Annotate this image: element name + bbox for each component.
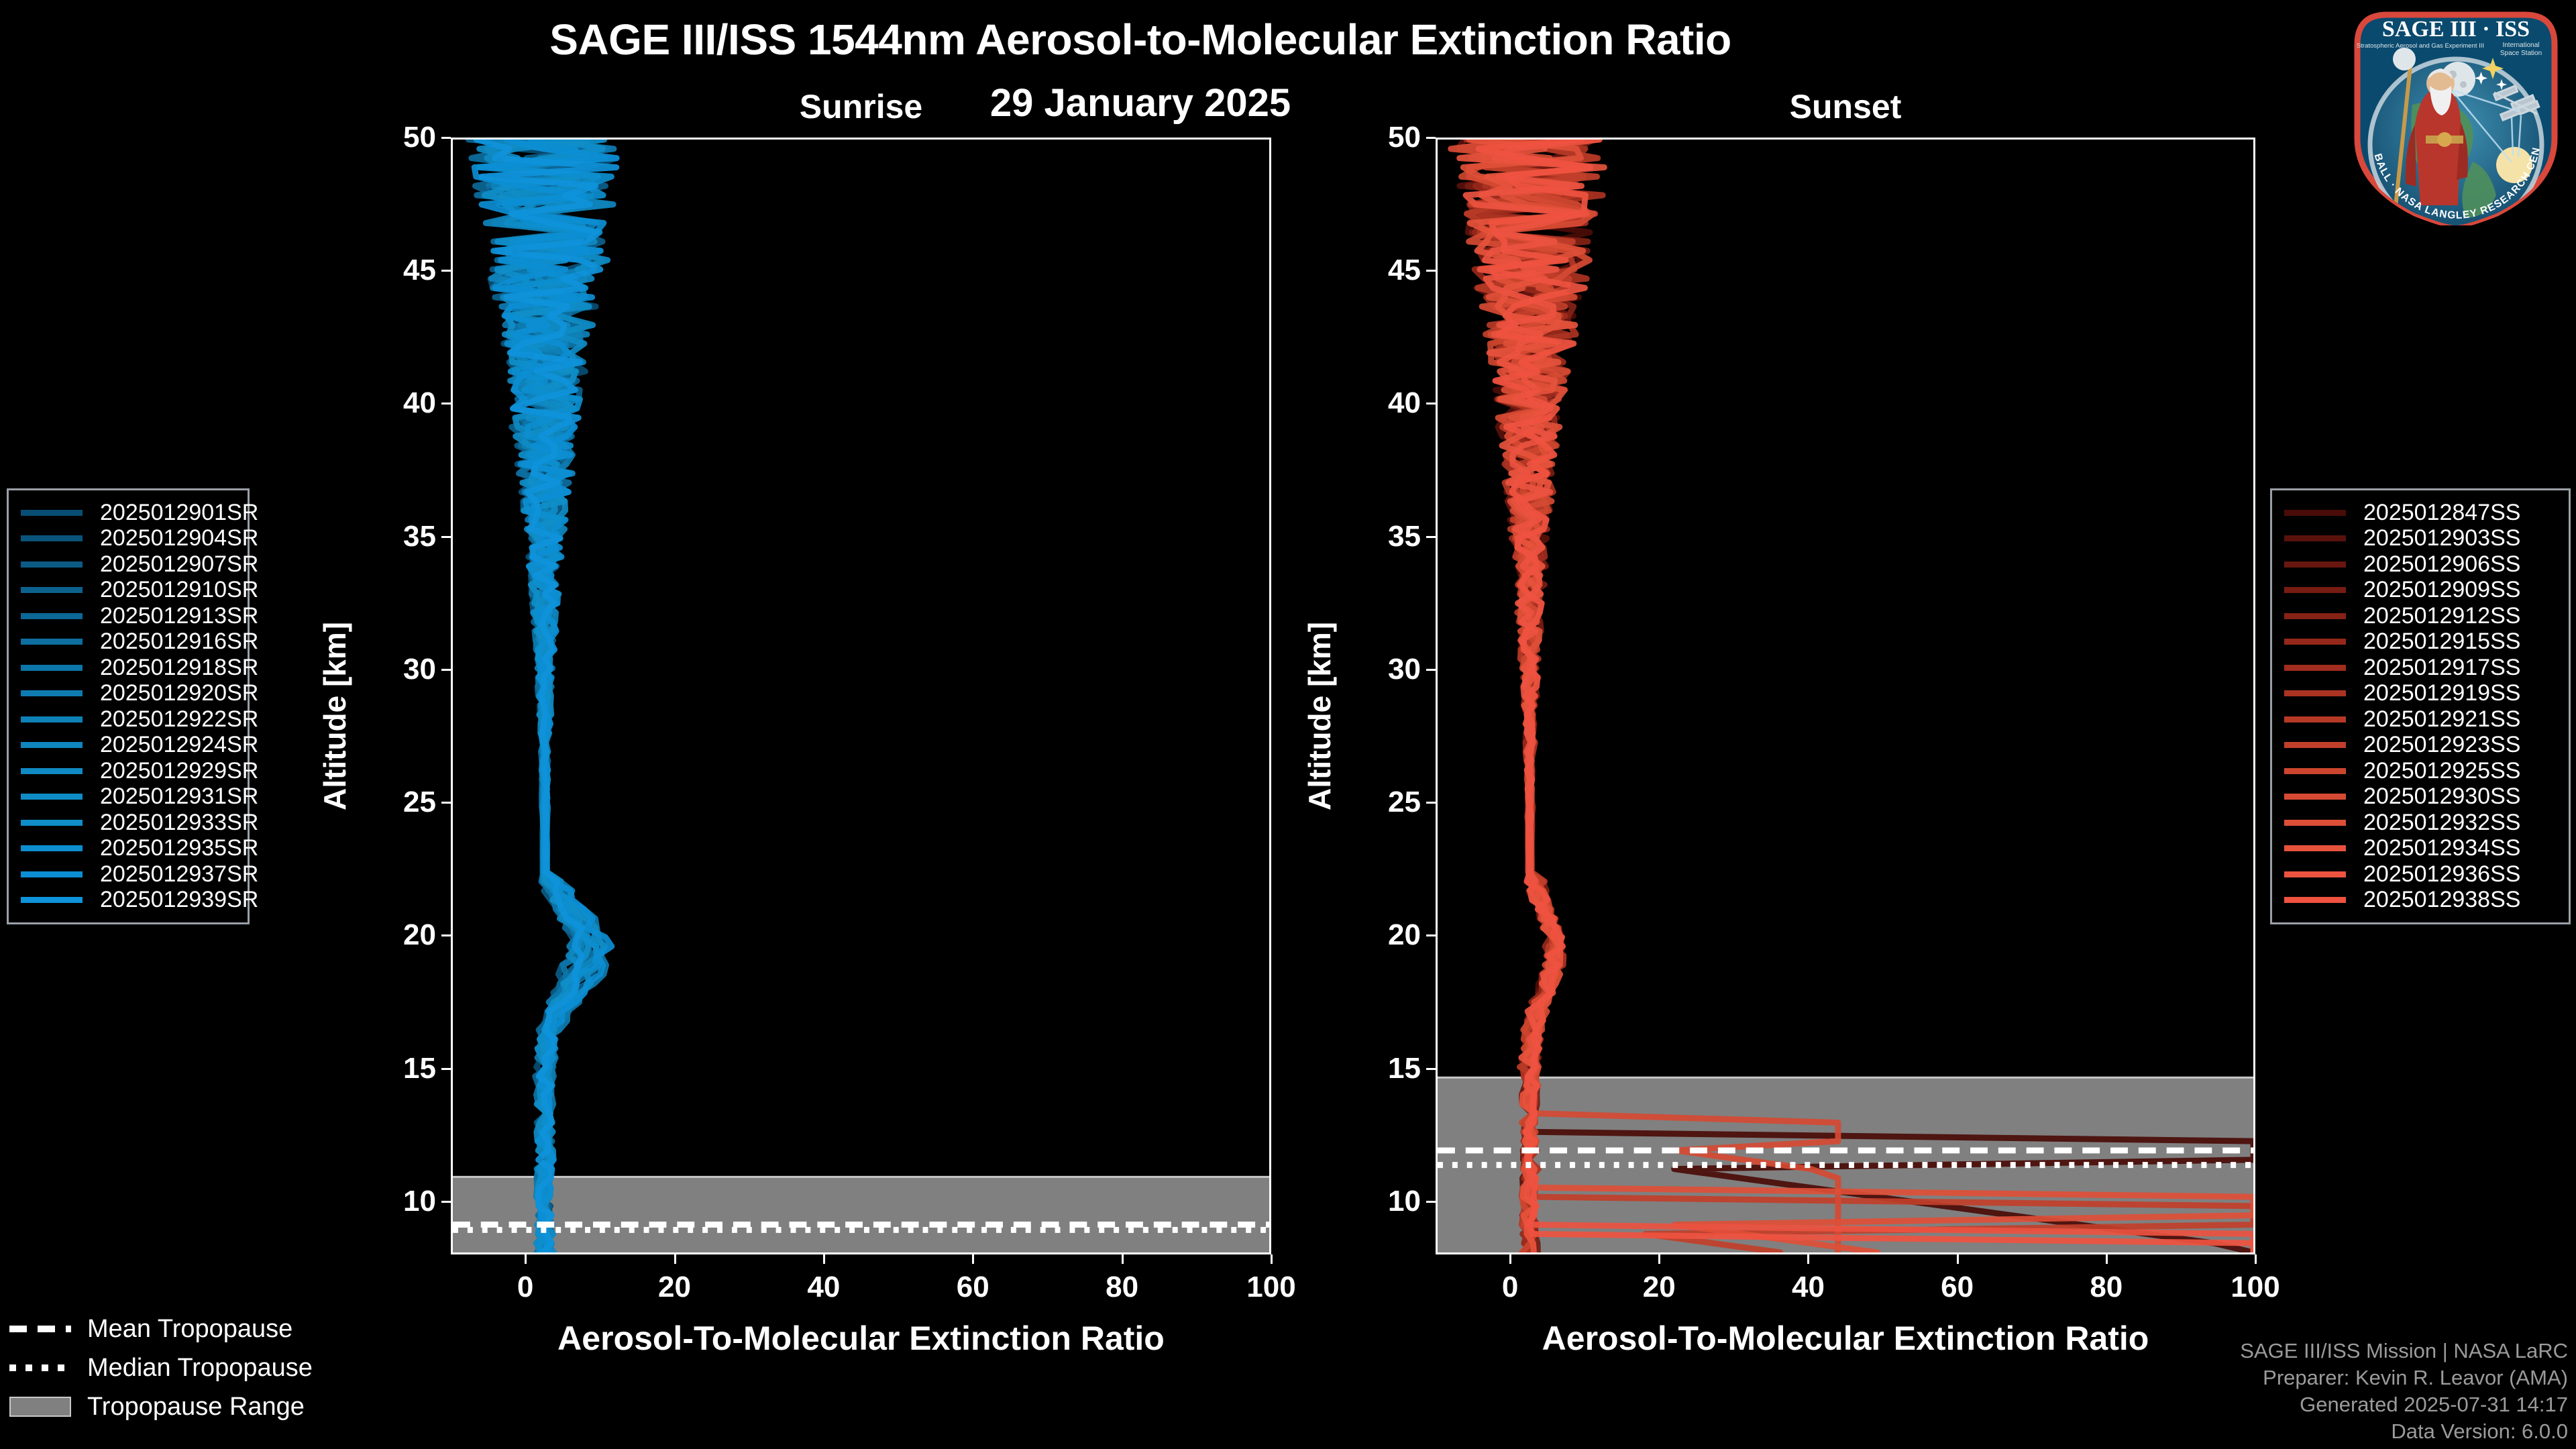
- logo-title: SAGE III · ISS: [2382, 17, 2530, 42]
- y-tick-mark: [1426, 1201, 1436, 1203]
- legend-item-2025012925SS[interactable]: 2025012925SS: [2284, 758, 2557, 784]
- x-tick-label: 60: [1911, 1271, 2004, 1304]
- legend-item-median-tropopause: Median Tropopause: [9, 1348, 358, 1387]
- legend-item-2025012923SS[interactable]: 2025012923SS: [2284, 733, 2557, 759]
- y-tick-label: 20: [356, 918, 436, 952]
- y-tick-mark: [441, 270, 451, 272]
- y-tick-label: 35: [356, 520, 436, 553]
- legend-item-2025012913SR[interactable]: 2025012913SR: [21, 603, 235, 629]
- legend-label: 2025012913SR: [100, 603, 258, 629]
- legend-label: 2025012933SR: [100, 810, 258, 836]
- y-tick-label: 15: [356, 1052, 436, 1085]
- x-tick-label: 100: [2208, 1271, 2302, 1304]
- x-tick-label: 0: [478, 1271, 572, 1304]
- legend-item-2025012931SR[interactable]: 2025012931SR: [21, 784, 235, 810]
- footer-line-generated: Generated 2025-07-31 14:17: [2240, 1391, 2568, 1418]
- y-tick-label: 25: [1340, 786, 1421, 819]
- x-tick-mark: [525, 1254, 527, 1264]
- legend-color-swatch: [2284, 742, 2346, 748]
- legend-color-swatch: [21, 561, 83, 568]
- y-tick-label: 10: [1340, 1185, 1421, 1218]
- legend-item-2025012912SS[interactable]: 2025012912SS: [2284, 603, 2557, 629]
- legend-label: 2025012901SR: [100, 500, 258, 526]
- legend-item-2025012904SR[interactable]: 2025012904SR: [21, 526, 235, 552]
- legend-label: 2025012920SR: [100, 680, 258, 706]
- legend-color-swatch: [21, 716, 83, 722]
- legend-label: 2025012918SR: [100, 655, 258, 681]
- x-tick-mark: [972, 1254, 974, 1264]
- y-tick-label: 35: [1340, 520, 1421, 553]
- sage-iii-iss-mission-patch-logo: SAGE III · ISS Stratospheric Aerosol and…: [2345, 4, 2567, 225]
- legend-item-2025012936SS[interactable]: 2025012936SS: [2284, 861, 2557, 888]
- legend-label: 2025012923SS: [2363, 732, 2520, 758]
- y-tick-mark: [1426, 1068, 1436, 1070]
- x-tick-mark: [674, 1254, 676, 1264]
- legend-label: 2025012922SR: [100, 706, 258, 733]
- footer-line-preparer: Preparer: Kevin R. Leavor (AMA): [2240, 1364, 2568, 1391]
- y-tick-label: 50: [356, 121, 436, 154]
- legend-color-swatch: [2284, 897, 2346, 903]
- y-tick-mark: [1426, 669, 1436, 671]
- y-tick-mark: [441, 536, 451, 538]
- y-tick-label: 40: [356, 386, 436, 420]
- x-tick-label: 0: [1463, 1271, 1557, 1304]
- legend-label: 2025012938SS: [2363, 887, 2520, 913]
- legend-color-swatch: [21, 639, 83, 645]
- legend-color-swatch: [21, 535, 83, 541]
- y-tick-mark: [441, 802, 451, 804]
- legend-item-2025012922SR[interactable]: 2025012922SR: [21, 706, 235, 733]
- legend-color-swatch: [2284, 716, 2346, 722]
- legend-label: 2025012904SR: [100, 525, 258, 551]
- legend-label: 2025012932SS: [2363, 810, 2520, 836]
- legend-item-2025012938SS[interactable]: 2025012938SS: [2284, 888, 2557, 914]
- y-tick-label: 40: [1340, 386, 1421, 420]
- x-tick-mark: [1658, 1254, 1660, 1264]
- legend-item-2025012915SS[interactable]: 2025012915SS: [2284, 629, 2557, 655]
- tropopause-legend: Mean Tropopause Median Tropopause Tropop…: [9, 1309, 358, 1426]
- y-tick-label: 30: [1340, 653, 1421, 686]
- legend-label: 2025012937SR: [100, 861, 258, 888]
- sunrise-plot-canvas: [453, 140, 1269, 1252]
- y-tick-mark: [1426, 802, 1436, 804]
- tropopause-range-band: [453, 1177, 1269, 1252]
- filled-band-icon: [9, 1399, 71, 1414]
- legend-item-2025012935SR[interactable]: 2025012935SR: [21, 836, 235, 862]
- sunrise-plot-panel: [451, 138, 1271, 1254]
- legend-item-2025012939SR[interactable]: 2025012939SR: [21, 888, 235, 914]
- y-tick-mark: [441, 1201, 451, 1203]
- logo-subtitle-right-1: International: [2502, 42, 2539, 49]
- legend-color-swatch: [21, 510, 83, 516]
- y-tick-mark: [1426, 270, 1436, 272]
- legend-label: 2025012847SS: [2363, 500, 2520, 526]
- footer-credits: SAGE III/ISS Mission | NASA LaRC Prepare…: [2240, 1338, 2568, 1445]
- legend-color-swatch: [21, 690, 83, 696]
- legend-label-tropopause-range: Tropopause Range: [87, 1393, 305, 1421]
- x-tick-mark: [1271, 1254, 1273, 1264]
- legend-color-swatch: [21, 665, 83, 671]
- legend-label: 2025012917SS: [2363, 655, 2520, 681]
- legend-item-2025012930SS[interactable]: 2025012930SS: [2284, 784, 2557, 810]
- x-tick-label: 100: [1224, 1271, 1318, 1304]
- x-tick-mark: [1122, 1254, 1124, 1264]
- legend-label-mean-tropopause: Mean Tropopause: [87, 1315, 292, 1344]
- legend-color-swatch: [21, 897, 83, 903]
- legend-color-swatch: [2284, 561, 2346, 568]
- x-axis-label: Aerosol-To-Molecular Extinction Ratio: [1436, 1319, 2255, 1358]
- legend-label: 2025012925SS: [2363, 758, 2520, 784]
- legend-item-2025012932SS[interactable]: 2025012932SS: [2284, 810, 2557, 836]
- legend-color-swatch: [21, 587, 83, 593]
- sunrise-panel-label: Sunrise: [451, 87, 1271, 126]
- x-tick-label: 20: [628, 1271, 722, 1304]
- legend-color-swatch: [2284, 639, 2346, 645]
- sunset-series-legend: 2025012847SS2025012903SS2025012906SS2025…: [2270, 488, 2571, 924]
- y-tick-label: 20: [1340, 918, 1421, 952]
- legend-color-swatch: [2284, 768, 2346, 774]
- legend-label: 2025012910SR: [100, 577, 258, 603]
- y-tick-label: 50: [1340, 121, 1421, 154]
- y-axis-label: Altitude [km]: [1301, 621, 1338, 810]
- legend-color-swatch: [2284, 820, 2346, 826]
- legend-color-swatch: [2284, 690, 2346, 696]
- y-tick-label: 45: [1340, 254, 1421, 287]
- legend-color-swatch: [2284, 587, 2346, 593]
- legend-item-2025012847SS[interactable]: 2025012847SS: [2284, 500, 2557, 526]
- footer-line-mission: SAGE III/ISS Mission | NASA LaRC: [2240, 1338, 2568, 1364]
- legend-color-swatch: [2284, 794, 2346, 800]
- sunset-plot-canvas: [1438, 140, 2253, 1252]
- legend-item-2025012903SS[interactable]: 2025012903SS: [2284, 526, 2557, 552]
- legend-label: 2025012936SS: [2363, 861, 2520, 888]
- y-tick-label: 10: [356, 1185, 436, 1218]
- legend-label: 2025012903SS: [2363, 525, 2520, 551]
- legend-item-2025012901SR[interactable]: 2025012901SR: [21, 500, 235, 526]
- legend-item-2025012909SS[interactable]: 2025012909SS: [2284, 578, 2557, 604]
- legend-item-2025012919SS[interactable]: 2025012919SS: [2284, 681, 2557, 707]
- legend-label: 2025012916SR: [100, 629, 258, 655]
- y-tick-mark: [1426, 137, 1436, 139]
- x-tick-label: 80: [1075, 1271, 1169, 1304]
- legend-color-swatch: [2284, 613, 2346, 619]
- legend-label-median-tropopause: Median Tropopause: [87, 1354, 313, 1383]
- legend-label: 2025012935SR: [100, 835, 258, 861]
- y-tick-mark: [441, 137, 451, 139]
- legend-item-2025012933SR[interactable]: 2025012933SR: [21, 810, 235, 836]
- sunset-panel-label: Sunset: [1436, 87, 2255, 126]
- dashed-line-icon: [9, 1322, 71, 1336]
- y-axis-label: Altitude [km]: [317, 621, 353, 810]
- legend-label: 2025012909SS: [2363, 577, 2520, 603]
- x-tick-label: 40: [1761, 1271, 1855, 1304]
- legend-label: 2025012924SR: [100, 732, 258, 758]
- legend-color-swatch: [21, 794, 83, 800]
- x-tick-label: 60: [926, 1271, 1020, 1304]
- legend-label: 2025012931SR: [100, 784, 258, 810]
- x-tick-label: 40: [777, 1271, 871, 1304]
- dotted-line-icon: [9, 1360, 71, 1375]
- legend-item-2025012924SR[interactable]: 2025012924SR: [21, 733, 235, 759]
- legend-label: 2025012921SS: [2363, 706, 2520, 733]
- legend-item-2025012920SR[interactable]: 2025012920SR: [21, 681, 235, 707]
- y-tick-mark: [441, 1068, 451, 1070]
- legend-item-2025012929SR[interactable]: 2025012929SR: [21, 758, 235, 784]
- y-tick-label: 30: [356, 653, 436, 686]
- legend-item-2025012916SR[interactable]: 2025012916SR: [21, 629, 235, 655]
- x-tick-mark: [1957, 1254, 1959, 1264]
- legend-color-swatch: [21, 845, 83, 851]
- legend-color-swatch: [21, 613, 83, 619]
- legend-color-swatch: [21, 742, 83, 748]
- legend-item-2025012907SR[interactable]: 2025012907SR: [21, 551, 235, 578]
- legend-item-2025012918SR[interactable]: 2025012918SR: [21, 655, 235, 681]
- legend-item-tropopause-range: Tropopause Range: [9, 1387, 358, 1426]
- legend-color-swatch: [2284, 845, 2346, 851]
- legend-label: 2025012907SR: [100, 551, 258, 578]
- sunset-plot-panel: [1436, 138, 2255, 1254]
- legend-item-2025012910SR[interactable]: 2025012910SR: [21, 578, 235, 604]
- y-tick-label: 15: [1340, 1052, 1421, 1085]
- x-tick-mark: [1509, 1254, 1511, 1264]
- legend-label: 2025012912SS: [2363, 603, 2520, 629]
- y-tick-mark: [441, 669, 451, 671]
- x-tick-mark: [2255, 1254, 2257, 1264]
- legend-label: 2025012930SS: [2363, 784, 2520, 810]
- legend-color-swatch: [21, 820, 83, 826]
- legend-label: 2025012939SR: [100, 887, 258, 913]
- x-tick-mark: [823, 1254, 825, 1264]
- legend-color-swatch: [21, 871, 83, 877]
- page-title: SAGE III/ISS 1544nm Aerosol-to-Molecular…: [0, 15, 2281, 64]
- y-tick-label: 25: [356, 786, 436, 819]
- legend-color-swatch: [21, 768, 83, 774]
- y-tick-mark: [441, 402, 451, 405]
- y-tick-mark: [1426, 934, 1436, 936]
- y-tick-mark: [441, 934, 451, 936]
- legend-item-2025012921SS[interactable]: 2025012921SS: [2284, 706, 2557, 733]
- legend-item-2025012934SS[interactable]: 2025012934SS: [2284, 836, 2557, 862]
- footer-line-version: Data Version: 6.0.0: [2240, 1418, 2568, 1445]
- logo-subtitle-right-2: Space Station: [2500, 50, 2542, 57]
- legend-label: 2025012919SS: [2363, 680, 2520, 706]
- legend-label: 2025012934SS: [2363, 835, 2520, 861]
- legend-color-swatch: [2284, 535, 2346, 541]
- x-tick-label: 20: [1612, 1271, 1706, 1304]
- y-tick-label: 45: [356, 254, 436, 287]
- y-tick-mark: [1426, 536, 1436, 538]
- legend-label: 2025012929SR: [100, 758, 258, 784]
- sunrise-series-legend: 2025012901SR2025012904SR2025012907SR2025…: [7, 488, 250, 924]
- x-tick-label: 80: [2059, 1271, 2153, 1304]
- logo-subtitle-left: Stratospheric Aerosol and Gas Experiment…: [2357, 42, 2484, 50]
- legend-color-swatch: [2284, 871, 2346, 877]
- legend-item-mean-tropopause: Mean Tropopause: [9, 1309, 358, 1348]
- x-tick-mark: [2106, 1254, 2108, 1264]
- x-tick-mark: [1807, 1254, 1809, 1264]
- x-axis-label: Aerosol-To-Molecular Extinction Ratio: [451, 1319, 1271, 1358]
- legend-label: 2025012906SS: [2363, 551, 2520, 578]
- legend-color-swatch: [2284, 665, 2346, 671]
- legend-item-2025012937SR[interactable]: 2025012937SR: [21, 861, 235, 888]
- legend-item-2025012906SS[interactable]: 2025012906SS: [2284, 551, 2557, 578]
- y-tick-mark: [1426, 402, 1436, 405]
- legend-color-swatch: [2284, 510, 2346, 516]
- legend-item-2025012917SS[interactable]: 2025012917SS: [2284, 655, 2557, 681]
- legend-label: 2025012915SS: [2363, 629, 2520, 655]
